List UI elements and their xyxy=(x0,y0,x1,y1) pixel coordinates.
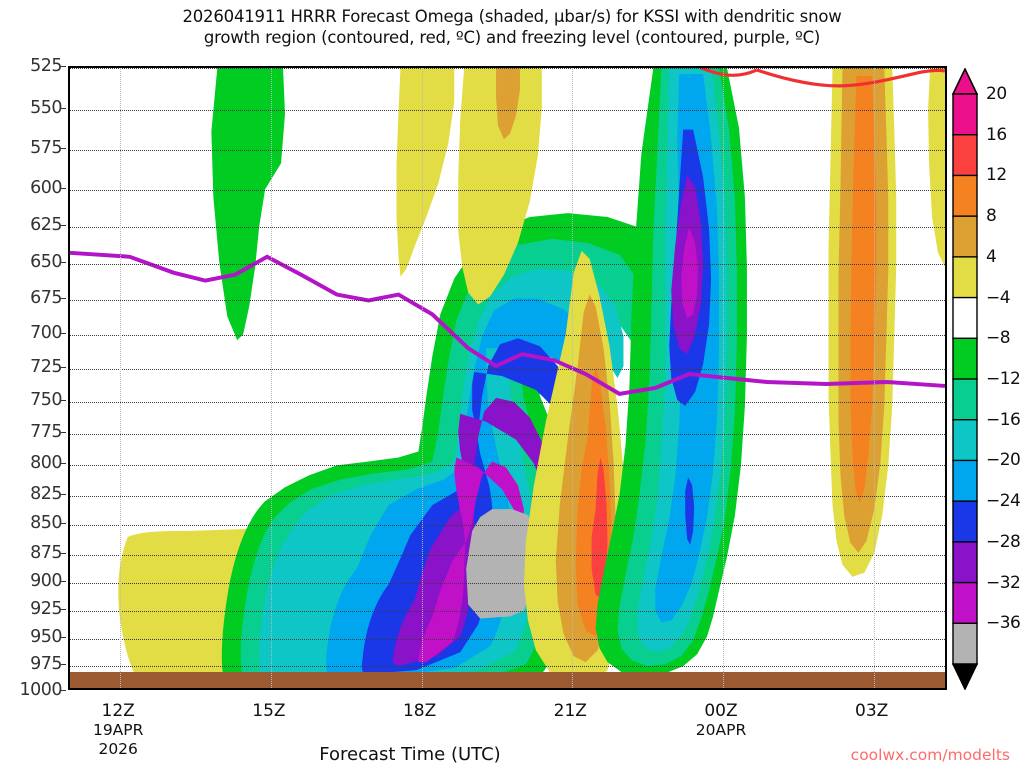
y-axis-tick-label: 575 xyxy=(30,138,62,158)
gridline-horizontal xyxy=(70,68,945,69)
colorbar-tick-label: 12 xyxy=(986,165,1007,185)
colorbar-band xyxy=(953,501,977,542)
gridline-horizontal xyxy=(70,434,945,435)
colorbar-band xyxy=(953,257,977,298)
gridline-horizontal xyxy=(70,465,945,466)
watermark: coolwx.com/modelts xyxy=(851,746,1010,764)
y-axis-tick-label: 800 xyxy=(30,453,62,473)
y-axis-tick-mark xyxy=(61,432,66,433)
y-axis-tick-label: 950 xyxy=(30,627,62,647)
region-morning-subsidence-rightedge-yellow xyxy=(928,68,945,267)
y-axis-tick-label: 550 xyxy=(30,98,62,118)
gridline-horizontal xyxy=(70,150,945,151)
gridline-horizontal xyxy=(70,555,945,556)
gridline-horizontal xyxy=(70,264,945,265)
gridline-vertical xyxy=(874,68,875,688)
y-axis-tick-mark xyxy=(61,66,66,67)
y-axis-tick-mark xyxy=(61,367,66,368)
x-axis-title: Forecast Time (UTC) xyxy=(0,744,820,765)
y-axis-tick-label: 700 xyxy=(30,323,62,343)
y-axis-tick-label: 925 xyxy=(30,599,62,619)
y-axis-tick-label: 725 xyxy=(30,357,62,377)
y-axis-tick-mark xyxy=(61,690,66,691)
y-axis-tick-label: 650 xyxy=(30,252,62,272)
x-tick-time: 12Z xyxy=(102,701,135,721)
y-axis-tick-mark xyxy=(61,225,66,226)
y-axis-tick-mark xyxy=(61,298,66,299)
y-axis-tick-mark xyxy=(61,463,66,464)
omega-shading-svg xyxy=(70,68,945,688)
x-axis-tick-label: 18Z xyxy=(403,702,436,721)
colorbar-band xyxy=(953,542,977,583)
gridline-horizontal xyxy=(70,300,945,301)
terrain-svg xyxy=(70,672,945,688)
colorbar xyxy=(952,68,978,690)
y-axis-tick-label: 625 xyxy=(30,215,62,235)
y-axis-tick-label: 875 xyxy=(30,543,62,563)
plot-area xyxy=(68,66,947,690)
y-axis-tick-mark xyxy=(61,609,66,610)
colorbar-band xyxy=(953,420,977,461)
x-axis-tick-label: 21Z xyxy=(554,702,587,721)
chart-title: 2026041911 HRRR Forecast Omega (shaded, … xyxy=(0,6,1024,48)
y-axis-tick-label: 825 xyxy=(30,484,62,504)
colorbar-tick-label: −4 xyxy=(986,288,1010,308)
gridline-vertical xyxy=(120,68,121,688)
colorbar-band xyxy=(953,623,977,664)
chart-title-line2: growth region (contoured, red, ºC) and f… xyxy=(0,27,1024,48)
x-tick-time: 21Z xyxy=(554,701,587,721)
terrain-surface xyxy=(70,672,945,688)
y-axis-tick-label: 750 xyxy=(30,390,62,410)
y-axis-tick-mark xyxy=(61,664,66,665)
y-axis-tick-label: 525 xyxy=(30,56,62,76)
colorbar-tick-label: −16 xyxy=(986,410,1020,430)
colorbar-tick-label: 20 xyxy=(986,84,1007,104)
colorbar-band xyxy=(953,175,977,216)
x-axis-tick-label: 15Z xyxy=(252,702,285,721)
y-axis-tick-mark xyxy=(61,333,66,334)
gridline-horizontal xyxy=(70,227,945,228)
y-axis-tick-mark xyxy=(61,523,66,524)
colorbar-tick-label: 4 xyxy=(986,247,996,267)
gridline-horizontal xyxy=(70,335,945,336)
colorbar-tick-label: −28 xyxy=(986,532,1020,552)
shaded-regions xyxy=(118,68,945,688)
x-axis-tick-label: 00Z20APR xyxy=(696,702,746,740)
gridline-vertical xyxy=(572,68,573,688)
y-axis-tick-mark xyxy=(61,108,66,109)
colorbar-tick-label: −20 xyxy=(986,450,1020,470)
colorbar-tick-label: −36 xyxy=(986,613,1020,633)
y-axis-tick-mark xyxy=(61,262,66,263)
y-axis-tick-mark xyxy=(61,581,66,582)
x-tick-date: 19APR xyxy=(93,721,143,740)
y-axis-tick-label: 600 xyxy=(30,178,62,198)
gridline-horizontal xyxy=(70,639,945,640)
colorbar-band xyxy=(953,338,977,379)
gridline-vertical xyxy=(422,68,423,688)
gridline-horizontal xyxy=(70,525,945,526)
colorbar-band xyxy=(953,298,977,339)
gridline-horizontal xyxy=(70,402,945,403)
colorbar-band xyxy=(953,583,977,624)
x-axis-tick-label: 03Z xyxy=(855,702,888,721)
gridline-horizontal xyxy=(70,369,945,370)
y-axis-tick-mark xyxy=(61,148,66,149)
chart-page: 2026041911 HRRR Forecast Omega (shaded, … xyxy=(0,0,1024,768)
region-upper-lobe-left-yellow xyxy=(397,68,455,277)
y-axis-tick-label: 975 xyxy=(30,654,62,674)
colorbar-svg xyxy=(952,68,978,690)
chart-title-line1: 2026041911 HRRR Forecast Omega (shaded, … xyxy=(182,7,841,26)
gridline-horizontal xyxy=(70,666,945,667)
gridline-vertical xyxy=(271,68,272,688)
colorbar-band xyxy=(953,135,977,176)
gridline-horizontal xyxy=(70,496,945,497)
colorbar-tick-label: −8 xyxy=(986,328,1010,348)
colorbar-band xyxy=(953,216,977,257)
gridline-vertical xyxy=(723,68,724,688)
omega-shading xyxy=(70,68,945,688)
x-tick-date: 20APR xyxy=(696,721,746,740)
x-tick-time: 00Z xyxy=(704,701,737,721)
y-axis-tick-mark xyxy=(61,553,66,554)
y-axis-tick-mark xyxy=(61,637,66,638)
y-axis: 5255505756006256506757007257507758008258… xyxy=(0,66,66,690)
colorbar-tick-label: −24 xyxy=(986,491,1020,511)
y-axis-tick-mark xyxy=(61,400,66,401)
y-axis-tick-label: 675 xyxy=(30,288,62,308)
y-axis-tick-label: 900 xyxy=(30,571,62,591)
colorbar-under-arrow xyxy=(953,664,977,689)
colorbar-band xyxy=(953,460,977,501)
gridline-horizontal xyxy=(70,583,945,584)
gridline-horizontal xyxy=(70,110,945,111)
colorbar-band xyxy=(953,379,977,420)
y-axis-tick-mark xyxy=(61,494,66,495)
colorbar-band xyxy=(953,94,977,135)
colorbar-tick-label: −32 xyxy=(986,573,1020,593)
x-tick-time: 15Z xyxy=(252,701,285,721)
gridline-horizontal xyxy=(70,611,945,612)
x-tick-time: 03Z xyxy=(855,701,888,721)
colorbar-over-arrow xyxy=(953,69,977,94)
colorbar-tick-label: 8 xyxy=(986,206,996,226)
y-axis-tick-label: 1000 xyxy=(19,680,62,700)
gridline-horizontal xyxy=(70,190,945,191)
y-axis-tick-label: 850 xyxy=(30,513,62,533)
y-axis-tick-mark xyxy=(61,188,66,189)
colorbar-tick-label: 16 xyxy=(986,125,1007,145)
y-axis-tick-label: 775 xyxy=(30,422,62,442)
colorbar-tick-label: −12 xyxy=(986,369,1020,389)
x-tick-time: 18Z xyxy=(403,701,436,721)
